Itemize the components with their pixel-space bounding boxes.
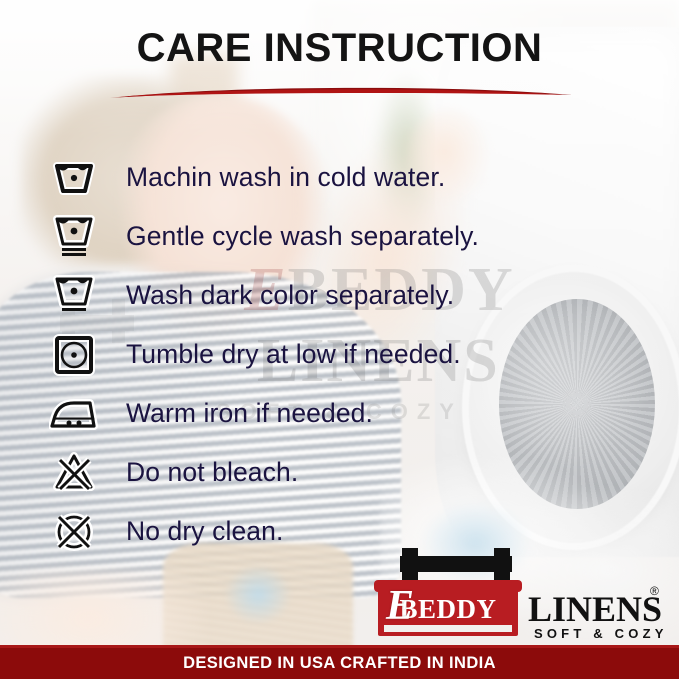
registered-trademark-icon: ®	[650, 584, 659, 598]
care-instruction-card: EBEDDY LINENS SOFT & COZY CARE INSTRUCTI…	[0, 0, 679, 679]
gentle-cycle-wash-icon	[46, 212, 102, 262]
logo-brand-mark: E	[386, 582, 414, 630]
no-dry-clean-icon	[46, 507, 102, 557]
tumble-dry-low-icon	[46, 330, 102, 380]
instruction-text: Tumble dry at low if needed.	[126, 339, 461, 370]
instruction-text: Wash dark color separately.	[126, 280, 454, 311]
title-divider-swoosh	[108, 84, 574, 102]
instruction-text: Gentle cycle wash separately.	[126, 221, 479, 252]
logo-tagline: SOFT & COZY	[534, 626, 668, 641]
instruction-row: Wash dark color separately.	[46, 266, 659, 325]
logo-brand-word: LINENS	[528, 588, 662, 630]
banner-text: DESIGNED IN USA CRAFTED IN INDIA	[183, 654, 496, 673]
machine-wash-icon	[46, 153, 102, 203]
instruction-text: No dry clean.	[126, 516, 283, 547]
instruction-row: Warm iron if needed.	[46, 384, 659, 443]
instruction-row: Gentle cycle wash separately.	[46, 207, 659, 266]
instruction-list: Machin wash in cold water. Gentle cycle …	[46, 148, 659, 561]
wash-dark-color-icon	[46, 271, 102, 321]
brand-logo: E BEDDY LINENS ® SOFT & COZY	[378, 548, 670, 644]
instruction-row: Do not bleach.	[46, 443, 659, 502]
instruction-text: Machin wash in cold water.	[126, 162, 445, 193]
page-title: CARE INSTRUCTION	[0, 26, 679, 71]
instruction-text: Do not bleach.	[126, 457, 298, 488]
instruction-row: Tumble dry at low if needed.	[46, 325, 659, 384]
instruction-text: Warm iron if needed.	[126, 398, 373, 429]
instruction-row: Machin wash in cold water.	[46, 148, 659, 207]
do-not-bleach-icon	[46, 448, 102, 498]
warm-iron-icon	[46, 389, 102, 439]
bottom-banner: DESIGNED IN USA CRAFTED IN INDIA	[0, 645, 679, 679]
